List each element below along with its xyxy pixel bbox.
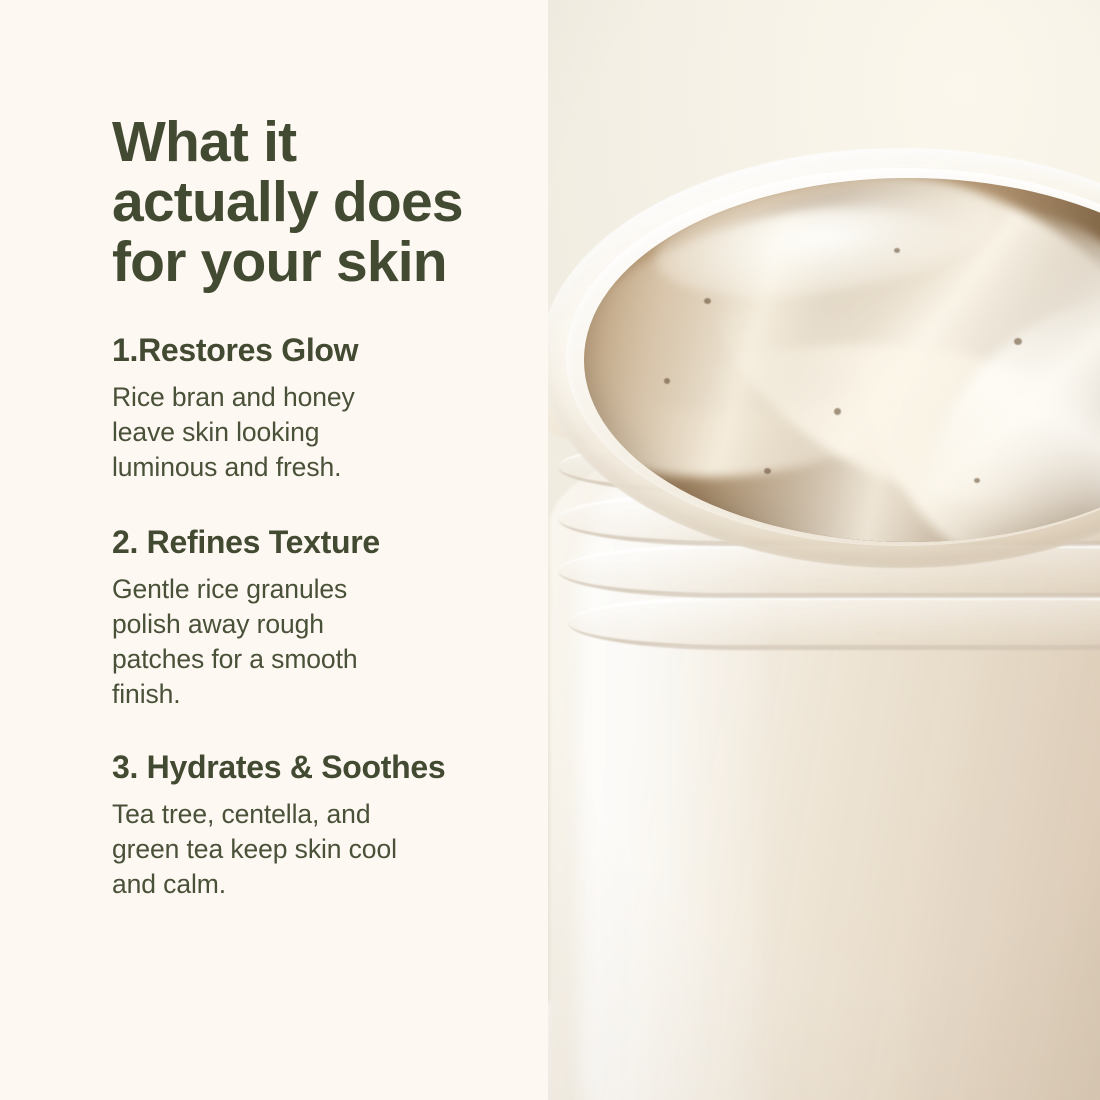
benefit-body-3: Tea tree, centella, and green tea keep s… bbox=[112, 797, 492, 902]
headline-line-2: actually does bbox=[112, 172, 512, 232]
text-panel: What it actually does for your skin 1.Re… bbox=[0, 0, 548, 1100]
product-photo bbox=[548, 0, 1100, 1100]
headline-line-3: for your skin bbox=[112, 232, 512, 292]
benefit-title-3-line-1: 3. Hydrates & bbox=[112, 749, 313, 785]
scrub-granule bbox=[974, 478, 980, 483]
benefit-body-2-line-2: polish away rough bbox=[112, 607, 492, 642]
jar-thread-5 bbox=[568, 596, 1100, 650]
scrub-granule bbox=[704, 298, 711, 304]
scrub-granule bbox=[764, 468, 771, 474]
benefit-title-3-line-2: Soothes bbox=[321, 749, 445, 785]
benefit-title-2: 2. Refines Texture bbox=[112, 523, 512, 562]
benefit-body-3-line-2: green tea keep skin cool bbox=[112, 832, 492, 867]
benefit-body-2: Gentle rice granules polish away rough p… bbox=[112, 572, 492, 712]
benefit-body-1-line-1: Rice bran and honey bbox=[112, 380, 492, 415]
benefit-body-2-line-3: patches for a smooth bbox=[112, 642, 492, 677]
page-title: What it actually does for your skin bbox=[112, 112, 512, 292]
benefit-title-3: 3. Hydrates & Soothes bbox=[112, 748, 512, 787]
benefit-body-3-line-1: Tea tree, centella, and bbox=[112, 797, 492, 832]
headline-line-1: What it bbox=[112, 112, 512, 172]
benefit-body-3-line-3: and calm. bbox=[112, 867, 492, 902]
benefit-item-2: 2. Refines Texture Gentle rice granules … bbox=[112, 523, 548, 712]
scrub-granule bbox=[894, 248, 900, 253]
scrub-granule bbox=[1014, 338, 1022, 345]
benefit-body-2-line-4: finish. bbox=[112, 677, 492, 712]
benefit-body-1-line-3: luminous and fresh. bbox=[112, 450, 492, 485]
photo-stage bbox=[548, 0, 1100, 1100]
benefit-title-1: 1.Restores Glow bbox=[112, 331, 512, 370]
benefit-body-1: Rice bran and honey leave skin looking l… bbox=[112, 380, 492, 485]
benefit-body-1-line-2: leave skin looking bbox=[112, 415, 492, 450]
promo-card: What it actually does for your skin 1.Re… bbox=[0, 0, 1100, 1100]
scrub-jar bbox=[548, 88, 1100, 1100]
scrub-granule bbox=[834, 408, 841, 415]
benefit-item-1: 1.Restores Glow Rice bran and honey leav… bbox=[112, 331, 548, 485]
benefit-body-2-line-1: Gentle rice granules bbox=[112, 572, 492, 607]
scrub-granule bbox=[664, 378, 670, 384]
benefit-item-3: 3. Hydrates & Soothes Tea tree, centella… bbox=[112, 748, 548, 902]
